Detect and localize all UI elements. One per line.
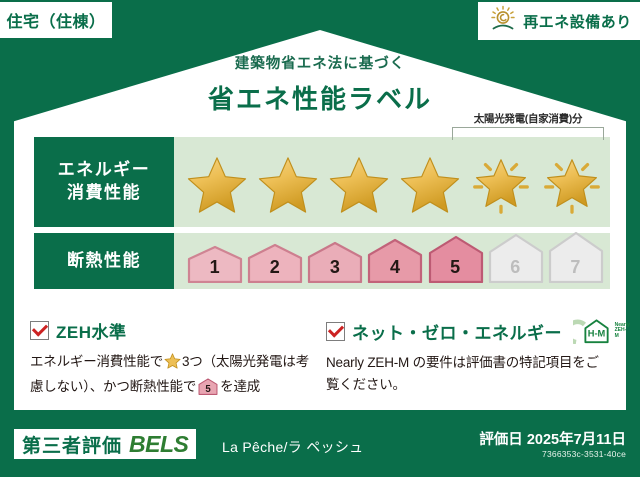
zeh-m-logo-icon: H-M Nearly ZEH-M	[573, 318, 630, 344]
renewable-energy-badge: 再エネ設備あり	[478, 2, 640, 40]
renewable-badge-label: 再エネ設備あり	[523, 11, 632, 32]
insulation-level-4: 4	[366, 238, 423, 283]
insulation-performance-row: 断熱性能 1 2 3	[34, 233, 610, 289]
building-type-label: 住宅（住棟）	[6, 8, 105, 32]
insulation-performance-label: 断熱性能	[34, 233, 174, 289]
criterion-net-zero-energy: ネット・ゼロ・エネルギー H-M Nearly ZEH-M Nearly ZEH…	[326, 318, 608, 399]
insulation-level-5: 5	[427, 235, 484, 283]
criterion-zeh-header: ZEH水準	[30, 318, 312, 343]
zeh-m-logo-sublabel: Nearly ZEH-M	[615, 323, 631, 339]
insulation-level-number: 4	[390, 257, 400, 283]
star-filled	[324, 148, 393, 222]
building-type-tag: 住宅（住棟）	[0, 2, 112, 38]
evaluation-date: 評価日 2025年7月11日	[479, 428, 626, 449]
energy-performance-label: 住宅（住棟） 再エネ設備あり 建築物省	[0, 0, 640, 477]
criterion-zeh-text-1: エネルギー消費性能で	[30, 354, 163, 369]
insulation-level-2: 2	[246, 243, 303, 283]
bels-logo: 第三者評価 BELS	[14, 429, 196, 459]
star-filled	[182, 148, 251, 222]
insulation-level-number: 3	[330, 257, 340, 283]
star-filled	[253, 148, 322, 222]
title-block: 建築物省エネ法に基づく 省エネ性能ラベル	[0, 52, 640, 116]
star-solar	[537, 148, 606, 222]
solar-note-label: 太陽光発電(自家消費)分	[452, 111, 604, 126]
criterion-zeh-text-3: を達成	[220, 379, 260, 394]
evaluation-id: 7366353c-3531-40ce	[542, 449, 626, 459]
energy-label-line2: 消費性能	[67, 182, 141, 205]
insulation-level-scale: 1 2 3 4 5	[186, 233, 604, 289]
energy-rating-body: 太陽光発電(自家消費)分	[174, 137, 610, 227]
title-subtitle: 建築物省エネ法に基づく	[0, 52, 640, 73]
inline-star-icon	[164, 353, 181, 376]
zeh-m-sub-line2: ZEH-M	[615, 327, 627, 338]
insulation-level-number: 7	[570, 257, 580, 283]
sun-renewable-icon	[488, 4, 518, 38]
property-name: La Pêche/ラ ペッシュ	[222, 437, 363, 457]
inline-house-icon: 5	[198, 378, 218, 395]
insulation-label: 断熱性能	[67, 250, 141, 273]
checkbox-checked-icon	[326, 322, 345, 341]
insulation-level-number: 6	[510, 257, 520, 283]
criterion-nze-header: ネット・ゼロ・エネルギー H-M Nearly ZEH-M	[326, 318, 608, 344]
energy-label-line1: エネルギー	[58, 159, 151, 182]
star-filled	[395, 148, 464, 222]
energy-performance-row: エネルギー 消費性能 太陽光発電(自家消費)分	[34, 137, 610, 227]
star-solar	[466, 148, 535, 222]
insulation-level-1: 1	[186, 245, 243, 283]
insulation-level-6: 6	[487, 233, 544, 283]
insulation-level-number: 1	[210, 257, 220, 283]
bels-en-label: BELS	[129, 431, 188, 458]
criterion-nze-body: Nearly ZEH-M の要件は評価書の特記項目をご覧ください。	[326, 352, 608, 397]
criterion-nze-title: ネット・ゼロ・エネルギー	[352, 319, 562, 344]
insulation-rating-body: 1 2 3 4 5	[174, 233, 610, 289]
bels-jp-label: 第三者評価	[22, 431, 122, 458]
criterion-zeh-body: エネルギー消費性能で3つ（太陽光発電は考慮しない）、かつ断熱性能で5を達成	[30, 351, 312, 399]
checkbox-checked-icon	[30, 321, 49, 340]
rating-rows: エネルギー 消費性能 太陽光発電(自家消費)分	[34, 137, 610, 295]
insulation-level-number: 5	[450, 257, 460, 283]
star-rating	[182, 145, 606, 225]
svg-text:H-M: H-M	[588, 329, 606, 339]
criterion-zeh-title: ZEH水準	[56, 318, 127, 343]
criterion-zeh: ZEH水準 エネルギー消費性能で3つ（太陽光発電は考慮しない）、かつ断熱性能で5…	[30, 318, 312, 399]
footer: 第三者評価 BELS La Pêche/ラ ペッシュ 評価日 2025年7月11…	[0, 419, 640, 477]
energy-performance-label: エネルギー 消費性能	[34, 137, 174, 227]
solar-bracket	[452, 127, 604, 140]
criteria-section: ZEH水準 エネルギー消費性能で3つ（太陽光発電は考慮しない）、かつ断熱性能で5…	[30, 318, 612, 399]
svg-text:5: 5	[206, 384, 212, 395]
insulation-level-3: 3	[306, 241, 363, 283]
insulation-level-7: 7	[547, 231, 604, 283]
insulation-level-number: 2	[270, 257, 280, 283]
